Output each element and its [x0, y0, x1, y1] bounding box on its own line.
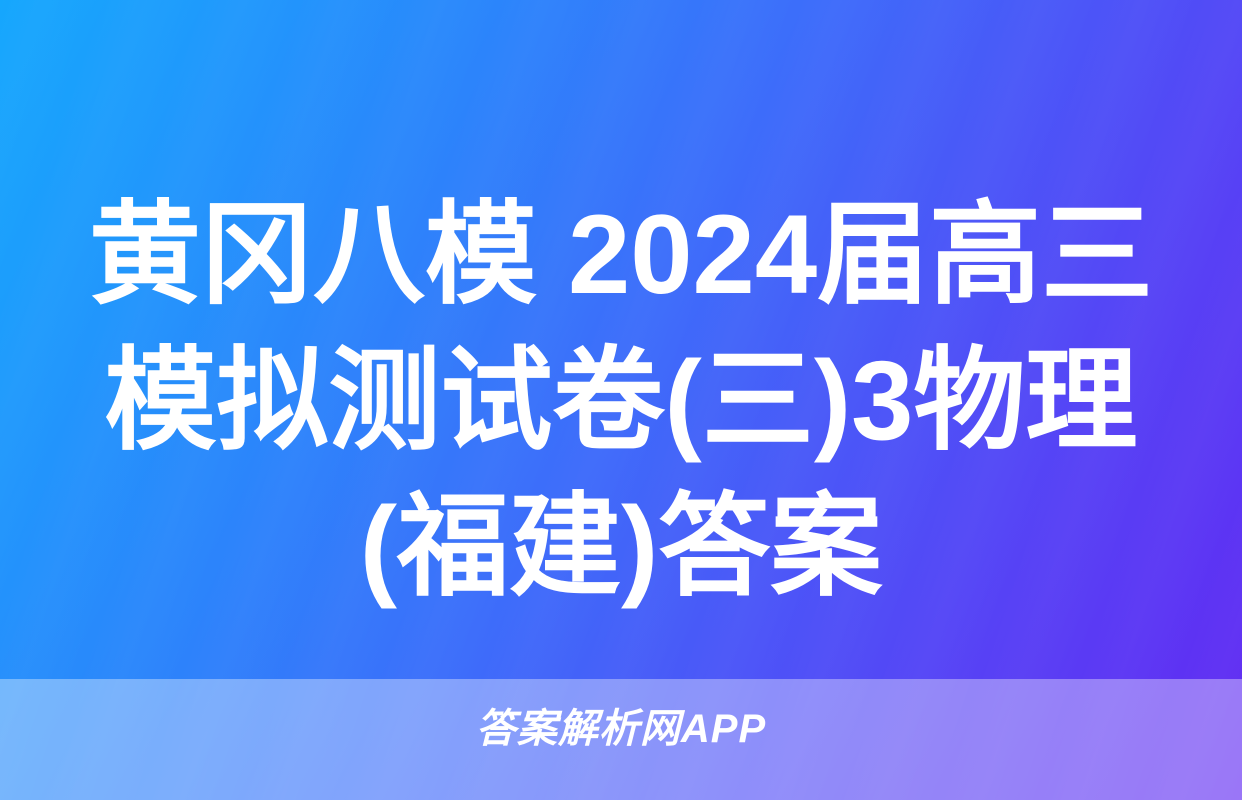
app-watermark-label: 答案解析网APP — [0, 704, 1242, 754]
poster-card: 黄冈八模 2024届高三模拟测试卷(三)3物理(福建)答案 答案解析网APP — [0, 0, 1242, 800]
page-title: 黄冈八模 2024届高三模拟测试卷(三)3物理(福建)答案 — [60, 182, 1182, 620]
